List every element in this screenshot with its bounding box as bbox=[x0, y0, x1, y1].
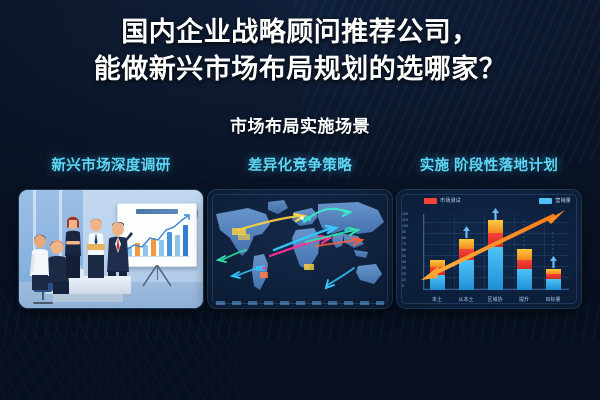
column-research: 新兴市场深度调研 bbox=[18, 155, 204, 308]
standing-person-4 bbox=[83, 216, 109, 278]
poster-canvas: 国内企业战略顾问推荐公司， 能做新兴市场布局规划的选哪家？ 市场布局实施场景 新… bbox=[0, 0, 600, 400]
map-scale-ticks bbox=[216, 301, 384, 305]
title-line-2: 能做新兴市场布局规划的选哪家？ bbox=[0, 51, 600, 88]
x-axis-label: 从本土 bbox=[451, 296, 481, 303]
x-axis-label: 本土 bbox=[422, 296, 452, 303]
column-heading-3: 实施 阶段性落地计划 bbox=[396, 155, 582, 181]
x-axis-label: 区域协 bbox=[480, 296, 510, 303]
stacked-bar-chart: 市场测试 营销量 120 110 100 90 80 70 60 50 40 3… bbox=[397, 190, 581, 308]
column-heading-2: 差异化竞争策略 bbox=[207, 155, 393, 181]
column-execution: 实施 阶段性落地计划 市场测试 营销量 120 110 100 90 80 bbox=[396, 155, 582, 308]
meeting-room-illustration bbox=[19, 190, 203, 308]
world-map bbox=[208, 190, 392, 308]
x-axis-label: 提升 bbox=[509, 296, 539, 303]
world-map-illustration bbox=[208, 190, 392, 308]
whiteboard-trend-line bbox=[124, 214, 190, 254]
whiteboard-legs bbox=[139, 265, 175, 287]
column-heading-1: 新兴市场深度调研 bbox=[18, 155, 204, 181]
title-line-1: 国内企业战略顾问推荐公司， bbox=[121, 17, 479, 47]
chart-droplines bbox=[397, 190, 581, 308]
scenario-columns: 新兴市场深度调研 bbox=[0, 155, 600, 320]
page-title: 国内企业战略顾问推荐公司， 能做新兴市场布局规划的选哪家？ bbox=[0, 14, 600, 88]
x-axis-label: 目标量 bbox=[538, 296, 568, 303]
column-strategy: 差异化竞争策略 bbox=[207, 155, 393, 308]
seated-person-2 bbox=[27, 232, 53, 290]
standing-person-3 bbox=[61, 214, 85, 278]
whiteboard-axis bbox=[124, 256, 190, 257]
page-subtitle: 市场布局实施场景 bbox=[0, 112, 600, 137]
